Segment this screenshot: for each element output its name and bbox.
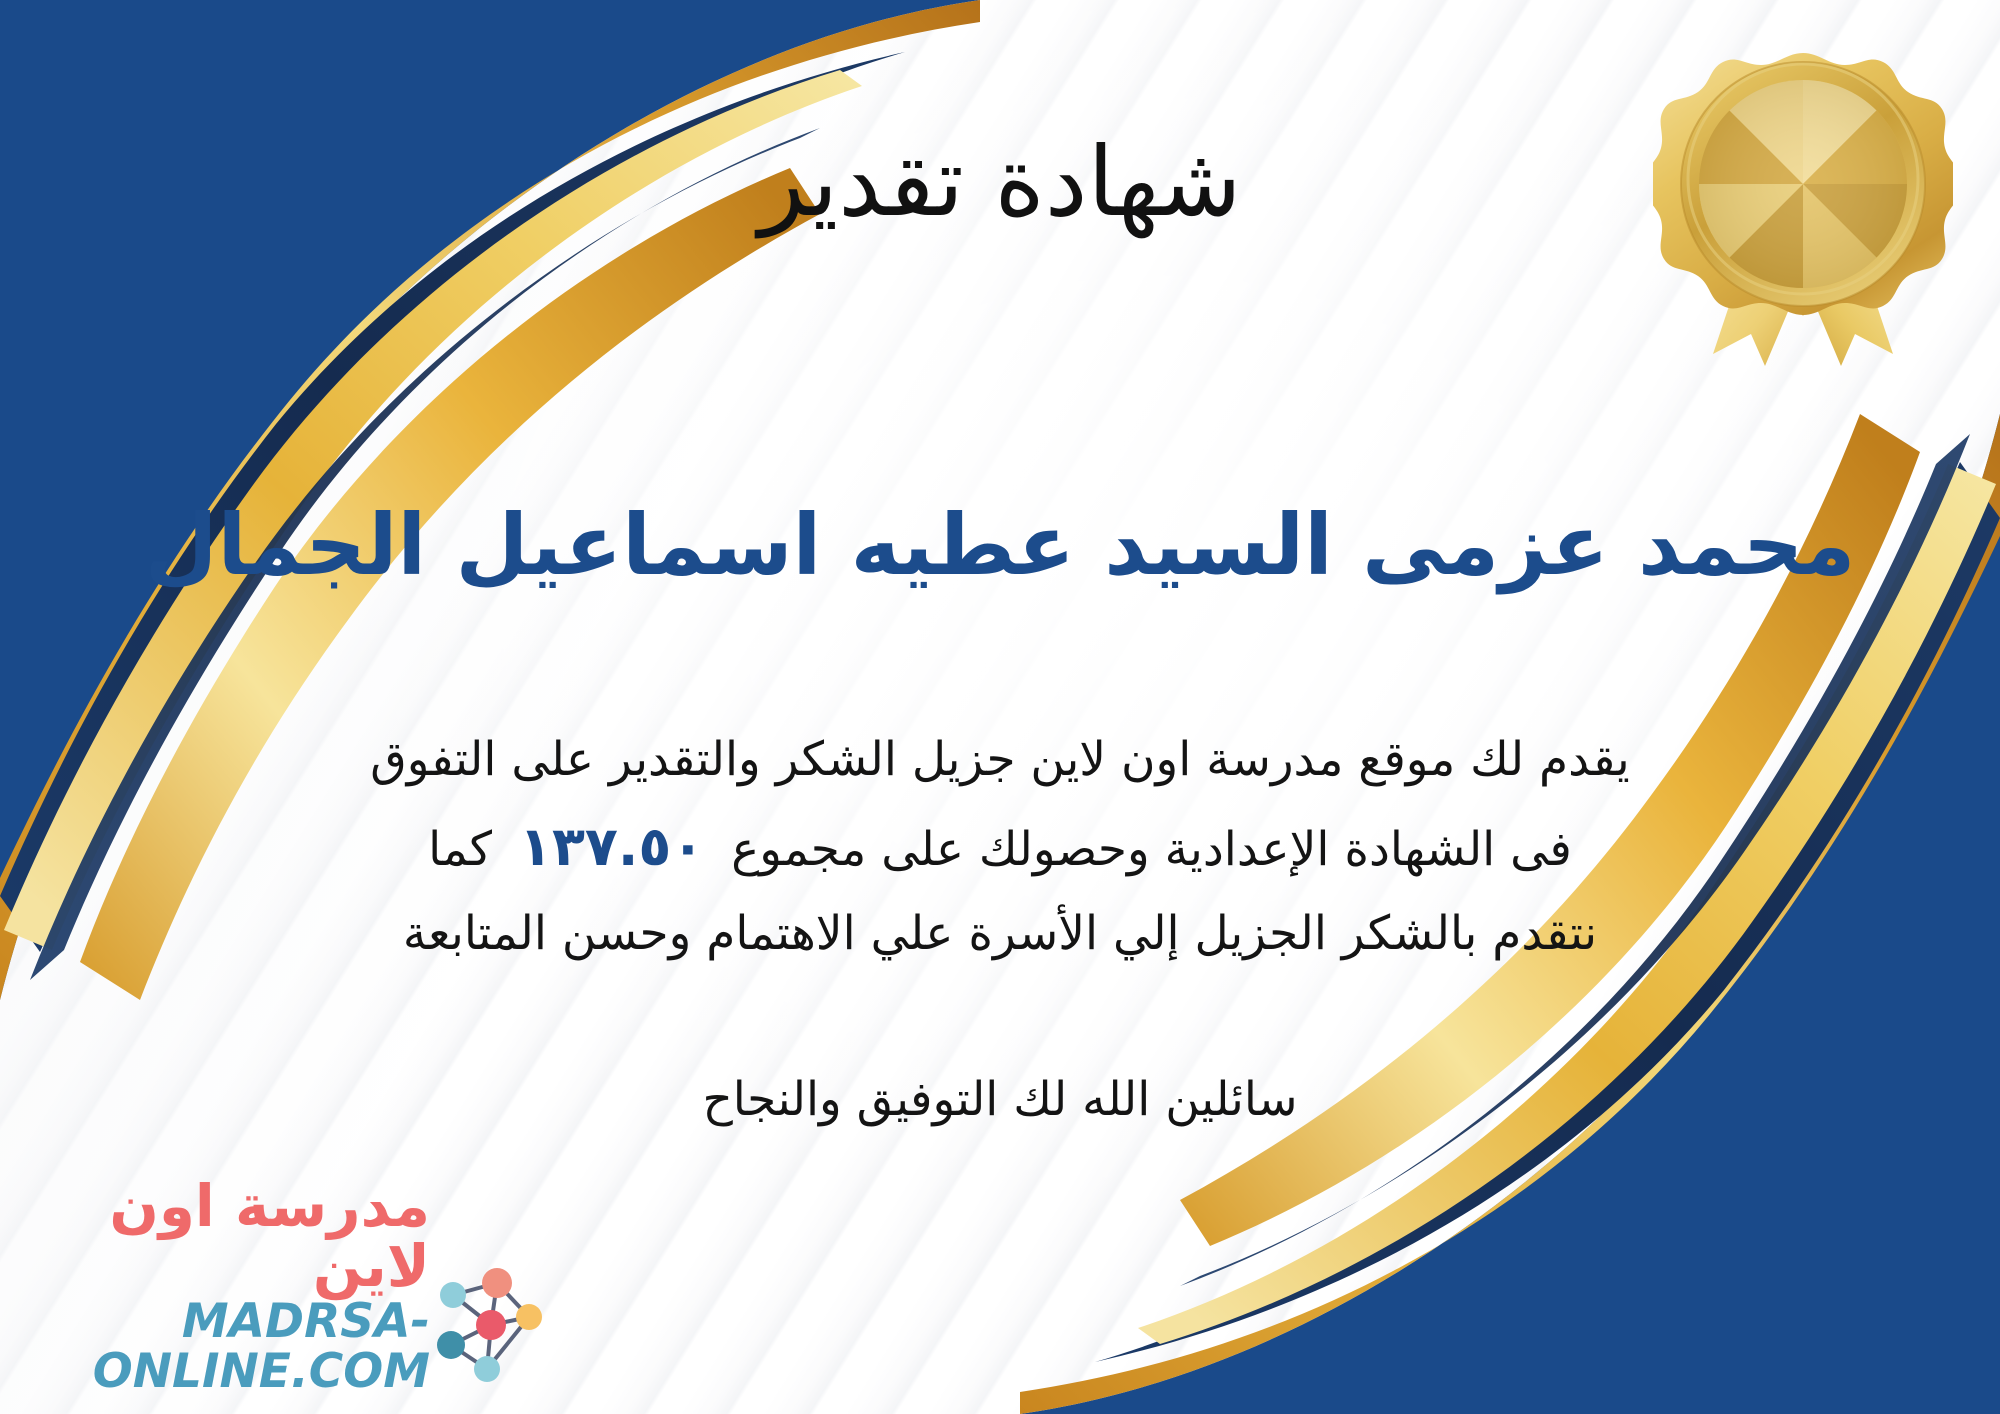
certificate-title: شهادة تقدير — [0, 130, 2000, 236]
recipient-name: محمد عزمى السيد عطيه اسماعيل الجمال — [0, 495, 2000, 596]
network-nodes-icon — [425, 1265, 550, 1390]
closing-line: سائلين الله لك التوفيق والنجاح — [0, 1072, 2000, 1127]
logo-text-group: مدرسة اون لاين MADRSA-ONLINE.COM — [30, 1176, 430, 1396]
body-line-2-prefix: فى الشهادة الإعدادية وحصولك على مجموع — [731, 822, 1572, 877]
body-line-1: يقدم لك موقع مدرسة اون لاين جزيل الشكر و… — [60, 720, 1940, 801]
logo-arabic-name: مدرسة اون لاين — [30, 1176, 430, 1298]
certificate-canvas: شهادة تقدير محمد عزمى السيد عطيه اسماعيل… — [0, 0, 2000, 1414]
body-line-2: فى الشهادة الإعدادية وحصولك على مجموع ١٣… — [60, 801, 1940, 894]
certificate-body: يقدم لك موقع مدرسة اون لاين جزيل الشكر و… — [0, 720, 2000, 975]
site-logo[interactable]: مدرسة اون لاين MADRSA-ONLINE.COM — [30, 1256, 550, 1396]
body-line-3: نتقدم بالشكر الجزيل إلي الأسرة علي الاهت… — [60, 894, 1940, 975]
logo-website-url: MADRSA-ONLINE.COM — [30, 1297, 430, 1396]
total-score-value: ١٣٧.٥٠ — [507, 815, 716, 878]
body-line-2-suffix: كما — [428, 822, 492, 877]
